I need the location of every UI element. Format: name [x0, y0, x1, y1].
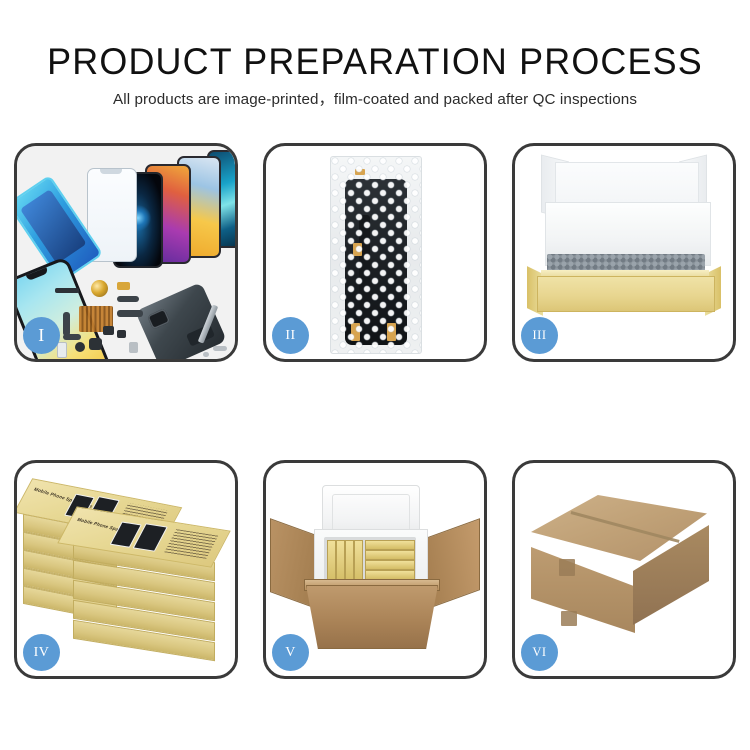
- page-subtitle: All products are image-printed，film-coat…: [0, 90, 750, 110]
- box-front-wall: [537, 276, 715, 312]
- product-preparation-infographic: PRODUCT PREPARATION PROCESS All products…: [0, 0, 750, 750]
- part-flex-cable-b: [63, 312, 70, 336]
- part-speaker-coil: [91, 280, 108, 297]
- part-ic-chip-b: [117, 330, 126, 338]
- yellow-box-h-2: [365, 550, 415, 560]
- box-spec-text-front: [164, 529, 218, 559]
- bubble-wrap-bag: [330, 156, 422, 354]
- yellow-box-v-3: [345, 540, 354, 582]
- part-metal-bracket: [129, 342, 138, 353]
- step-badge-1: I: [23, 317, 60, 354]
- part-antenna-strip: [55, 288, 79, 293]
- part-gold-connector: [117, 282, 130, 290]
- yellow-box-h-1: [365, 540, 415, 550]
- step-badge-3: III: [521, 317, 558, 354]
- bubble-texture: [331, 157, 421, 353]
- yellow-box-v-2: [336, 540, 345, 582]
- part-sim-tray: [57, 342, 67, 358]
- part-camera-module: [89, 338, 102, 350]
- yellow-box-v-1: [327, 540, 336, 582]
- step-panel-4[interactable]: Mobile Phone Spare Parts Mobile Phone Sp…: [14, 460, 238, 679]
- step-badge-6: VI: [521, 634, 558, 671]
- yellow-box-h-3: [365, 560, 415, 570]
- step-badge-5: V: [272, 634, 309, 671]
- carton-left-face: [531, 547, 635, 633]
- carton-tab-lower: [561, 611, 577, 626]
- step-badge-2: II: [272, 317, 309, 354]
- yellow-box-v-4: [354, 540, 363, 582]
- part-flex-cable-d: [117, 310, 143, 317]
- page-title: PRODUCT PREPARATION PROCESS: [11, 42, 739, 82]
- part-flex-cable-c: [63, 334, 81, 340]
- step-panel-5[interactable]: V: [263, 460, 487, 679]
- foam-cavity: [324, 537, 416, 583]
- part-screw-single: [203, 352, 209, 357]
- step-panel-3[interactable]: III: [512, 143, 736, 362]
- part-vibrator-motor: [75, 342, 85, 352]
- carton-front-wall: [306, 585, 438, 649]
- process-steps-grid: I II: [14, 143, 736, 679]
- step-panel-1[interactable]: I: [14, 143, 238, 362]
- step-panel-6[interactable]: VI: [512, 460, 736, 679]
- part-screws-loose: [213, 346, 227, 351]
- part-ic-chip-a: [103, 326, 114, 335]
- carton-tab-upper: [559, 559, 575, 576]
- step-panel-2[interactable]: II: [263, 143, 487, 362]
- step-badge-4: IV: [23, 634, 60, 671]
- part-flex-cable-a: [117, 296, 139, 302]
